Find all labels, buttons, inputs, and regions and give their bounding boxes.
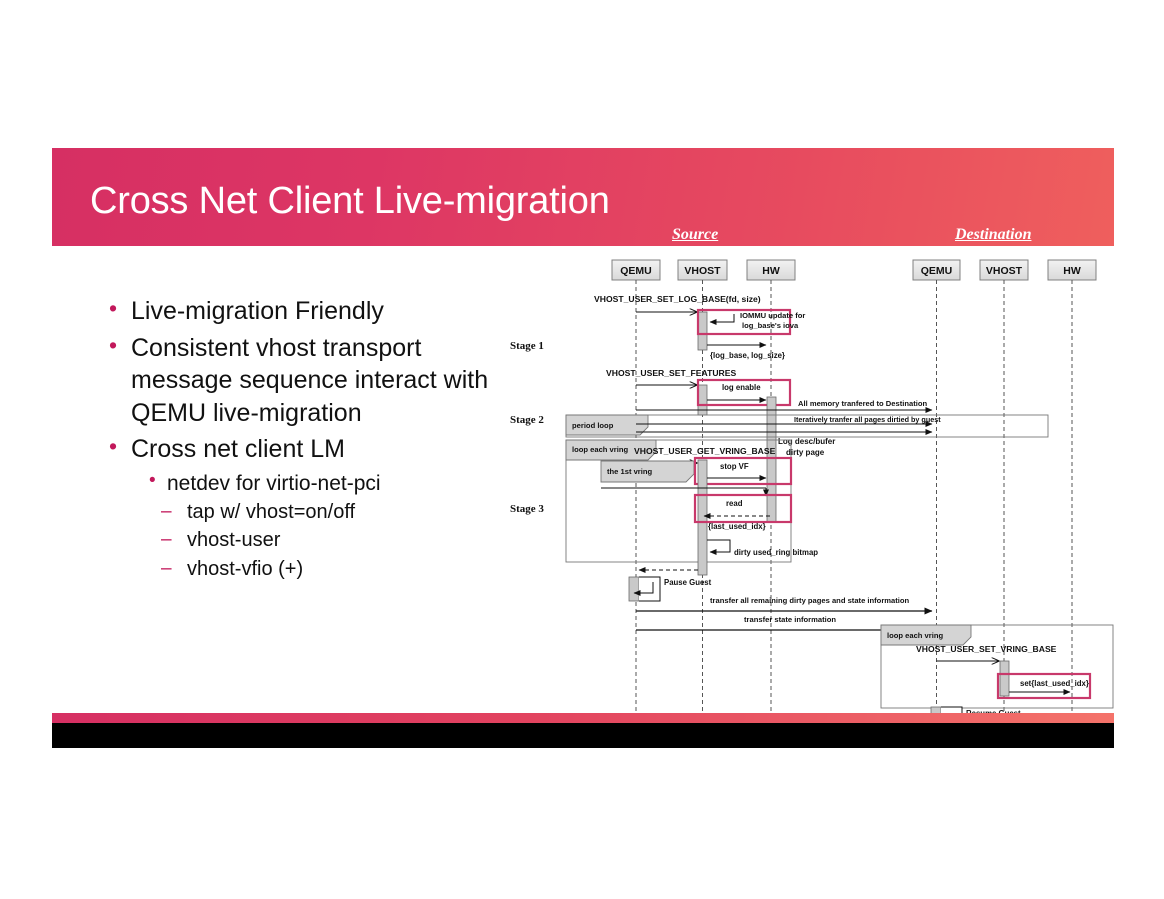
source-label: Source: [672, 226, 718, 244]
stage-label: Stage 2: [510, 414, 544, 426]
message-label: log_base's iova: [742, 321, 799, 330]
lifeline-label: VHOST: [684, 265, 721, 277]
list-item: Consistent vhost transport message seque…: [105, 332, 525, 430]
lifeline-src-hw: HW: [747, 260, 795, 280]
message-label: VHOST_USER_SET_LOG_BASE(fd, size): [594, 294, 761, 304]
message-label: transfer all remaining dirty pages and s…: [710, 596, 910, 605]
fragment-label: the 1st vring: [607, 467, 653, 476]
lifeline-label: VHOST: [986, 265, 1023, 277]
lifeline-label: QEMU: [620, 265, 652, 277]
message-label: Log desc/bufer: [778, 437, 835, 446]
list-item: Live-migration Friendly: [105, 295, 525, 328]
sequence-diagram: QEMU VHOST HW QEMU VHOST HW: [498, 252, 1118, 722]
message-label: Pause Guest: [664, 578, 712, 587]
message-label: read: [726, 499, 743, 508]
fragment-label: period loop: [572, 421, 614, 430]
list-item: vhost-user: [105, 527, 525, 553]
message-label: Iteratively tranfer all pages dirtied by…: [794, 415, 941, 424]
list-item: vhost-vfio (+): [105, 556, 525, 582]
fragment-label: loop each vring: [572, 445, 628, 454]
message-label: VHOST_USER_GET_VRING_BASE: [634, 446, 776, 456]
bullet-list: Live-migration Friendly Consistent vhost…: [105, 295, 525, 584]
lifeline-src-vhost: VHOST: [678, 260, 727, 280]
message-label: All memory tranfered to Destination: [798, 399, 927, 408]
lifeline-dst-hw: HW: [1048, 260, 1096, 280]
message-label: dirty page: [786, 448, 825, 457]
message-label: VHOST_USER_SET_FEATURES: [606, 368, 736, 378]
message-label: {last_used_idx}: [708, 522, 766, 531]
lifeline-label: QEMU: [921, 265, 953, 277]
fragment-label: loop each vring: [887, 631, 943, 640]
lifeline-dst-qemu: QEMU: [913, 260, 960, 280]
message-label: stop VF: [720, 462, 749, 471]
lifeline-label: HW: [762, 265, 780, 277]
stage-label: Stage 3: [510, 503, 544, 515]
lifeline-headers: QEMU VHOST HW QEMU VHOST HW: [612, 260, 1096, 280]
lifeline-dst-vhost: VHOST: [980, 260, 1028, 280]
message-label: IOMMU update for: [740, 311, 805, 320]
lifeline-src-qemu: QEMU: [612, 260, 660, 280]
footer-accent-bar: [52, 713, 1114, 723]
pause-guest-group: Pause Guest: [629, 577, 712, 601]
lifeline-label: HW: [1063, 265, 1081, 277]
page-title: Cross Net Client Live-migration: [90, 180, 610, 223]
stage-label: Stage 1: [510, 340, 544, 352]
list-item: netdev for virtio-net-pci: [105, 470, 525, 497]
message-label: {log_base, log_size}: [710, 351, 785, 360]
slide: Cross Net Client Live-migration Source D…: [0, 0, 1164, 899]
list-item: tap w/ vhost=on/off: [105, 499, 525, 525]
message-label: VHOST_USER_SET_VRING_BASE: [916, 644, 1057, 654]
list-item: Cross net client LM: [105, 433, 525, 466]
footer-bar: [52, 723, 1114, 748]
message-label: dirty used_ring bitmap: [734, 548, 818, 557]
message-label: set{last_used_idx}: [1020, 679, 1089, 688]
destination-label: Destination: [955, 226, 1031, 244]
message-label: transfer state information: [744, 615, 836, 624]
message-label: log enable: [722, 383, 761, 392]
